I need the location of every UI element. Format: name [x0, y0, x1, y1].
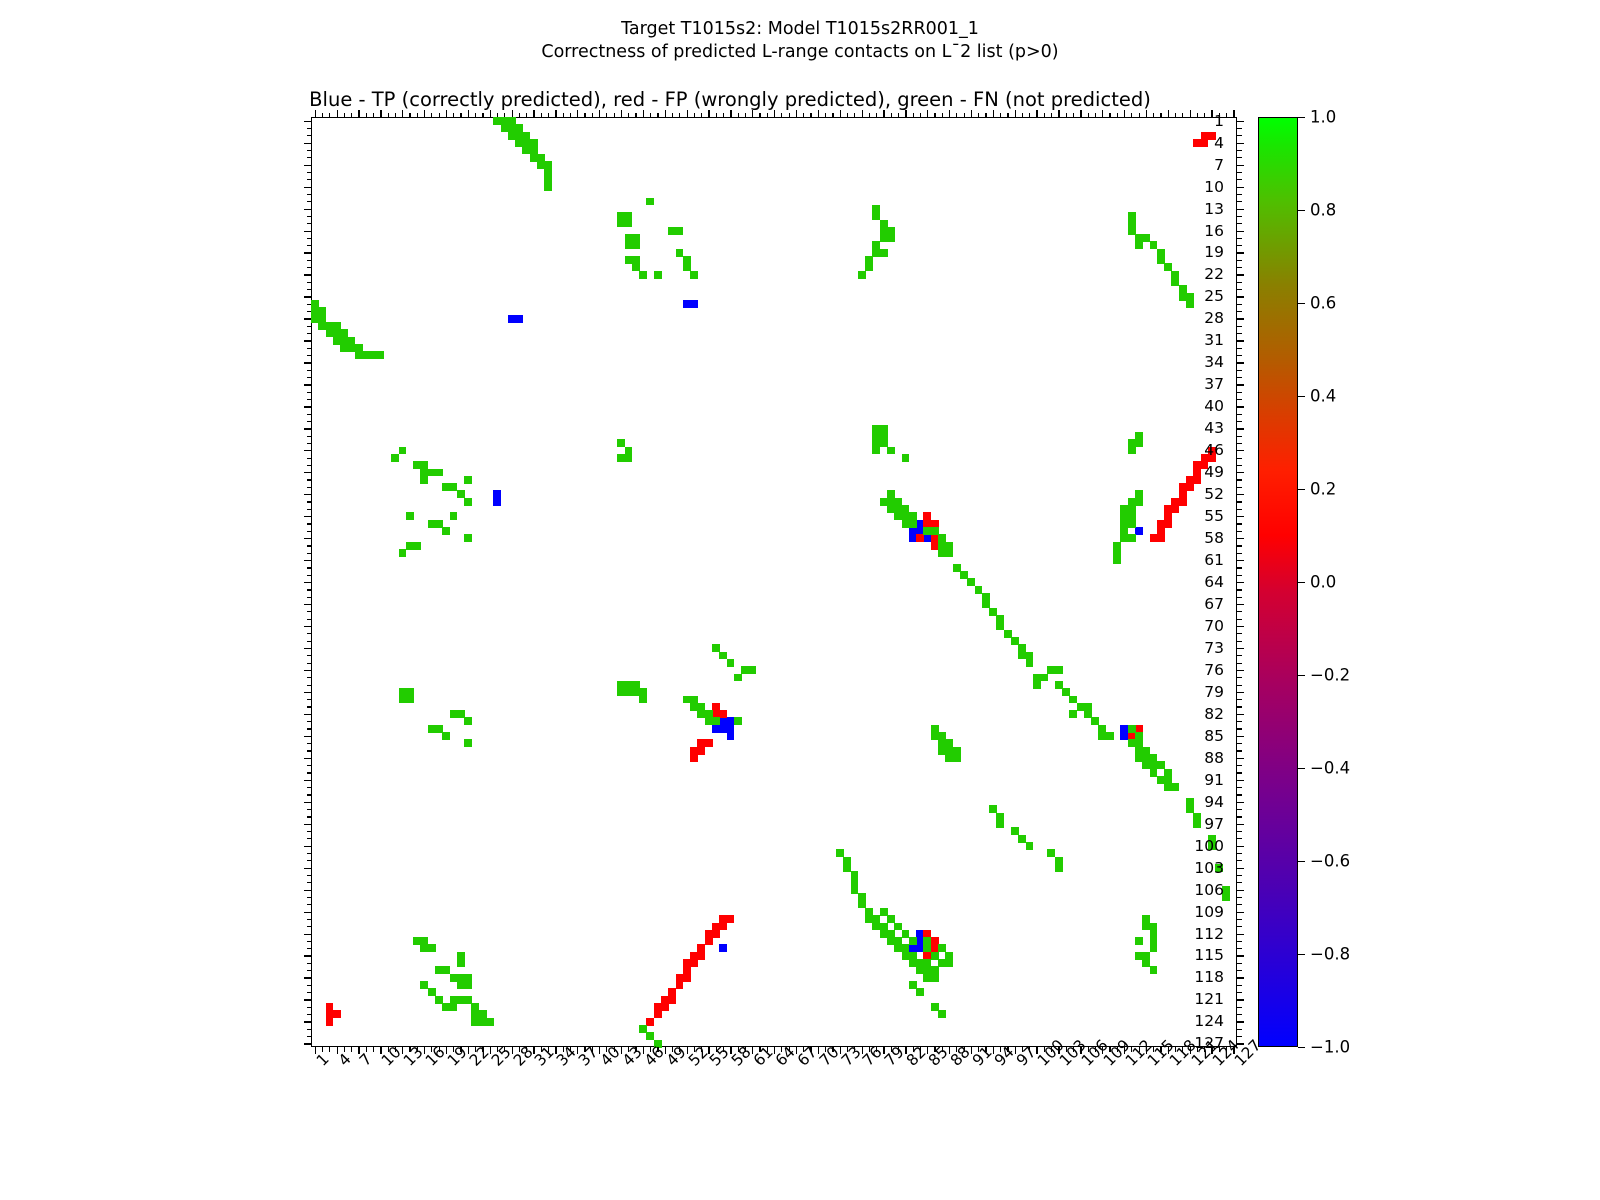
y-tick-minor — [307, 267, 312, 268]
x-tick-major — [905, 110, 906, 117]
x-tick-major — [643, 110, 644, 117]
x-tick-major — [533, 110, 534, 117]
x-tick-bottom — [1029, 1047, 1030, 1052]
x-tick-minor — [723, 113, 724, 118]
x-tick-minor — [1197, 113, 1198, 118]
x-tick-bottom — [1051, 1047, 1052, 1052]
colorbar-tick-label: −0.4 — [1310, 759, 1350, 778]
x-tick-bottom — [672, 1047, 673, 1052]
y-tick-minor — [307, 897, 312, 898]
y-tick-label: 61 — [1204, 551, 1224, 569]
x-tick-minor — [1153, 113, 1154, 118]
y-tick-right — [1237, 685, 1242, 686]
y-tick-major — [304, 187, 311, 188]
x-tick-minor — [439, 113, 440, 118]
y-tick-right — [1237, 941, 1242, 942]
x-tick-major — [883, 110, 884, 117]
colorbar-tick — [1298, 117, 1305, 118]
y-tick-right — [1237, 699, 1242, 700]
x-tick-bottom — [803, 1047, 804, 1052]
title-line-2: Correctness of predicted L-range contact… — [0, 41, 1600, 64]
y-tick-minor — [307, 816, 312, 817]
x-tick-minor — [431, 113, 432, 118]
y-tick-label: 115 — [1194, 946, 1224, 964]
contact-cell — [1157, 534, 1165, 542]
colorbar-tick — [1298, 303, 1305, 304]
contact-cell — [938, 1010, 946, 1018]
contact-cell — [865, 263, 873, 271]
y-tick-right — [1237, 399, 1242, 400]
contact-cell — [632, 241, 640, 249]
y-tick-right — [1237, 641, 1242, 642]
contact-cell — [909, 937, 917, 945]
y-tick-right — [1237, 414, 1242, 415]
x-tick-label: 4 — [335, 1057, 348, 1070]
x-tick-bottom — [497, 1047, 498, 1052]
x-tick-major — [927, 110, 928, 117]
y-tick-right — [1237, 201, 1242, 202]
contact-cell — [1135, 439, 1143, 447]
contact-cell — [639, 696, 647, 704]
y-tick-right — [1237, 179, 1242, 180]
x-tick-bottom — [1109, 1047, 1110, 1052]
y-tick-right — [1237, 831, 1242, 832]
x-tick-major — [468, 110, 469, 117]
y-tick-major — [304, 560, 311, 561]
y-tick-minor — [307, 853, 312, 854]
y-tick-minor — [307, 721, 312, 722]
y-tick-right — [1237, 436, 1242, 437]
y-tick-label: 64 — [1204, 573, 1224, 591]
y-tick-minor — [307, 772, 312, 773]
y-tick-minor — [307, 575, 312, 576]
y-tick-label: 112 — [1194, 925, 1224, 943]
x-tick-label: 52 — [685, 1057, 698, 1070]
y-tick-minor — [307, 501, 312, 502]
y-tick-minor — [307, 531, 312, 532]
colorbar-tick — [1298, 582, 1305, 583]
x-tick-minor — [563, 113, 564, 118]
legend-description: Blue - TP (correctly predicted), red - F… — [0, 88, 1460, 111]
x-tick-bottom — [1022, 1047, 1023, 1052]
x-tick-label: 76 — [859, 1057, 872, 1070]
x-tick-bottom — [439, 1047, 440, 1052]
y-tick-label: 85 — [1204, 727, 1224, 745]
y-tick-minor — [307, 992, 312, 993]
y-tick-minor — [307, 1007, 312, 1008]
x-tick-bottom — [329, 1047, 330, 1052]
y-tick-right — [1237, 1007, 1242, 1008]
x-tick-minor — [701, 113, 702, 118]
y-tick-major — [304, 999, 311, 1000]
y-tick-right — [1237, 977, 1244, 978]
y-tick-right — [1237, 1021, 1244, 1022]
y-tick-label: 106 — [1194, 881, 1224, 899]
x-tick-bottom — [716, 1047, 717, 1052]
x-tick-minor — [934, 113, 935, 118]
x-tick-major — [402, 110, 403, 117]
x-tick-bottom — [1197, 1047, 1198, 1052]
y-tick-label: 88 — [1204, 749, 1224, 767]
contact-cell — [654, 271, 662, 279]
contact-cell — [355, 344, 363, 352]
x-tick-bottom — [592, 1047, 593, 1052]
contact-cell — [916, 988, 924, 996]
contact-cell — [1069, 710, 1077, 718]
x-tick-minor — [1226, 113, 1227, 118]
y-tick-minor — [307, 304, 312, 305]
x-tick-minor — [759, 113, 760, 118]
x-tick-label: 97 — [1013, 1057, 1026, 1070]
y-tick-label: 70 — [1204, 617, 1224, 635]
y-tick-right — [1237, 362, 1244, 363]
x-tick-bottom — [1139, 1047, 1140, 1052]
y-tick-minor — [307, 860, 312, 861]
contact-cell — [683, 974, 691, 982]
y-tick-label: 7 — [1214, 156, 1224, 174]
y-tick-label: 22 — [1204, 265, 1224, 283]
y-tick-minor — [307, 370, 312, 371]
y-tick-major — [304, 714, 311, 715]
y-tick-right — [1237, 809, 1242, 810]
y-tick-minor — [307, 787, 312, 788]
x-tick-major — [358, 110, 359, 117]
y-tick-minor — [307, 311, 312, 312]
x-tick-bottom — [934, 1047, 935, 1052]
contact-cell — [1186, 483, 1194, 491]
y-tick-major — [304, 209, 311, 210]
x-tick-major — [993, 110, 994, 117]
y-tick-right — [1237, 223, 1242, 224]
contact-cell — [435, 469, 443, 477]
contact-cell — [464, 476, 472, 484]
x-tick-bottom — [759, 1047, 760, 1052]
x-tick-minor — [745, 113, 746, 118]
contact-cell — [996, 820, 1004, 828]
y-tick-minor — [307, 377, 312, 378]
chart-title-block: Target T1015s2: Model T1015s2RR001_1 Cor… — [0, 18, 1600, 64]
y-tick-right — [1237, 538, 1244, 539]
y-tick-right — [1237, 948, 1242, 949]
y-tick-right — [1237, 721, 1242, 722]
y-tick-minor — [307, 838, 312, 839]
y-tick-minor — [307, 245, 312, 246]
colorbar-tick — [1298, 954, 1305, 955]
x-tick-major — [577, 110, 578, 117]
x-tick-bottom — [964, 1047, 965, 1052]
x-tick-bottom — [1175, 1047, 1176, 1052]
x-tick-minor — [832, 113, 833, 118]
y-tick-major — [304, 231, 311, 232]
contact-cell — [406, 696, 414, 704]
y-tick-right — [1237, 882, 1242, 883]
y-tick-minor — [307, 172, 312, 173]
y-tick-right — [1237, 238, 1242, 239]
x-tick-bottom — [694, 1047, 695, 1052]
contact-cell — [887, 447, 895, 455]
y-tick-minor — [307, 941, 312, 942]
y-tick-right — [1237, 575, 1242, 576]
contact-cell — [515, 315, 523, 323]
y-tick-right — [1237, 318, 1244, 319]
y-tick-minor — [307, 260, 312, 261]
contact-cell — [1193, 476, 1201, 484]
contact-cell — [442, 732, 450, 740]
x-tick-major — [380, 110, 381, 117]
x-tick-bottom — [526, 1047, 527, 1052]
y-tick-minor — [307, 904, 312, 905]
x-tick-bottom — [1095, 1047, 1096, 1052]
contact-cell — [1135, 241, 1143, 249]
y-tick-major — [304, 274, 311, 275]
x-tick-minor — [898, 113, 899, 118]
contact-cell — [625, 220, 633, 228]
colorbar-tick — [1298, 396, 1305, 397]
y-tick-right — [1237, 824, 1244, 825]
y-tick-major — [304, 934, 311, 935]
y-tick-major — [304, 428, 311, 429]
contact-cell — [326, 1018, 334, 1026]
y-tick-right — [1237, 919, 1242, 920]
y-tick-right — [1237, 311, 1242, 312]
x-tick-bottom — [920, 1047, 921, 1052]
x-tick-minor — [913, 113, 914, 118]
x-tick-bottom — [876, 1047, 877, 1052]
y-tick-right — [1237, 655, 1242, 656]
contact-cell — [734, 717, 742, 725]
x-tick-minor — [592, 113, 593, 118]
x-tick-minor — [1117, 113, 1118, 118]
x-tick-minor — [548, 113, 549, 118]
x-tick-label: 25 — [488, 1057, 501, 1070]
x-tick-bottom — [832, 1047, 833, 1052]
y-tick-label: 28 — [1204, 309, 1224, 327]
x-tick-bottom — [738, 1047, 739, 1052]
x-tick-label: 58 — [728, 1057, 741, 1070]
contact-cell — [1033, 681, 1041, 689]
y-tick-major — [304, 384, 311, 385]
x-tick-bottom — [366, 1047, 367, 1052]
contact-cell — [391, 454, 399, 462]
contact-cell — [318, 307, 326, 315]
x-tick-minor — [475, 113, 476, 118]
contact-cell — [1026, 842, 1034, 850]
x-tick-bottom — [854, 1047, 855, 1052]
contact-cell — [457, 981, 465, 989]
x-tick-major — [315, 110, 316, 117]
y-tick-label: 46 — [1204, 441, 1224, 459]
y-tick-label: 91 — [1204, 771, 1224, 789]
y-tick-right — [1237, 274, 1244, 275]
y-tick-right — [1237, 728, 1242, 729]
y-tick-minor — [307, 743, 312, 744]
x-tick-minor — [322, 113, 323, 118]
contact-cell — [719, 923, 727, 931]
x-tick-bottom — [504, 1047, 505, 1052]
y-tick-right — [1237, 479, 1242, 480]
x-tick-label: 16 — [422, 1057, 435, 1070]
x-tick-minor — [519, 113, 520, 118]
y-tick-right — [1237, 860, 1242, 861]
y-tick-major — [304, 670, 311, 671]
x-tick-minor — [854, 113, 855, 118]
contact-cell — [654, 1010, 662, 1018]
y-tick-right — [1237, 157, 1242, 158]
x-tick-major — [708, 110, 709, 117]
x-tick-minor — [1160, 113, 1161, 118]
y-tick-right — [1237, 750, 1242, 751]
x-tick-major — [774, 110, 775, 117]
contact-cell — [1150, 966, 1158, 974]
x-tick-bottom — [657, 1047, 658, 1052]
x-tick-major — [337, 110, 338, 117]
x-tick-minor — [1219, 113, 1220, 118]
x-tick-label: 106 — [1078, 1057, 1091, 1070]
y-tick-major — [304, 780, 311, 781]
contact-cell — [676, 227, 684, 235]
x-tick-minor — [1095, 113, 1096, 118]
contact-cell — [1201, 139, 1209, 147]
x-tick-label: 40 — [597, 1057, 610, 1070]
x-tick-major — [687, 110, 688, 117]
contact-cell — [1186, 300, 1194, 308]
y-tick-minor — [307, 128, 312, 129]
y-tick-right — [1237, 743, 1242, 744]
y-tick-major — [304, 955, 311, 956]
y-tick-right — [1237, 465, 1242, 466]
y-tick-minor — [307, 619, 312, 620]
x-tick-minor — [869, 113, 870, 118]
x-tick-bottom — [563, 1047, 564, 1052]
x-tick-minor — [738, 113, 739, 118]
y-tick-right — [1237, 377, 1242, 378]
y-tick-major — [304, 604, 311, 605]
y-tick-right — [1237, 370, 1242, 371]
x-tick-minor — [635, 113, 636, 118]
y-tick-minor — [307, 135, 312, 136]
y-tick-right — [1237, 890, 1244, 891]
y-tick-right — [1237, 135, 1242, 136]
contact-cell — [1135, 498, 1143, 506]
y-tick-right — [1237, 912, 1244, 913]
x-tick-bottom — [847, 1047, 848, 1052]
x-tick-label: 103 — [1056, 1057, 1069, 1070]
y-tick-right — [1237, 545, 1242, 546]
y-tick-minor — [307, 1014, 312, 1015]
y-tick-minor — [307, 289, 312, 290]
x-tick-label: 109 — [1100, 1057, 1113, 1070]
x-tick-minor — [1182, 113, 1183, 118]
y-tick-minor — [307, 926, 312, 927]
x-tick-bottom — [1160, 1047, 1161, 1052]
x-tick-bottom — [978, 1047, 979, 1052]
y-tick-right — [1237, 531, 1242, 532]
y-tick-minor — [307, 685, 312, 686]
y-tick-label: 4 — [1214, 134, 1224, 152]
x-tick-bottom — [723, 1047, 724, 1052]
x-tick-minor — [657, 113, 658, 118]
x-tick-bottom — [745, 1047, 746, 1052]
y-tick-right — [1237, 714, 1244, 715]
x-tick-bottom — [1000, 1047, 1001, 1052]
y-tick-right — [1237, 150, 1242, 151]
x-tick-bottom — [1182, 1047, 1183, 1052]
y-tick-right — [1237, 1029, 1242, 1030]
x-tick-major — [665, 110, 666, 117]
x-tick-major — [424, 110, 425, 117]
contact-cell — [668, 996, 676, 1004]
y-tick-right — [1237, 816, 1242, 817]
contact-cell — [479, 1018, 487, 1026]
x-tick-bottom — [570, 1047, 571, 1052]
x-tick-minor — [541, 113, 542, 118]
contact-cell — [464, 974, 472, 982]
x-tick-label: 28 — [510, 1057, 523, 1070]
x-tick-bottom — [1044, 1047, 1045, 1052]
y-tick-right — [1237, 267, 1242, 268]
x-tick-major — [1080, 110, 1081, 117]
x-tick-major — [1102, 110, 1103, 117]
y-tick-minor — [307, 421, 312, 422]
x-tick-minor — [409, 113, 410, 118]
y-tick-minor — [307, 809, 312, 810]
y-tick-right — [1237, 296, 1244, 297]
contact-cell — [748, 666, 756, 674]
y-tick-right — [1237, 970, 1242, 971]
contact-cell — [916, 534, 924, 542]
contact-cell — [1150, 944, 1158, 952]
x-tick-major — [490, 110, 491, 117]
x-tick-major — [1036, 110, 1037, 117]
y-tick-major — [304, 296, 311, 297]
x-tick-minor — [847, 113, 848, 118]
contact-cell — [646, 198, 654, 206]
y-tick-right — [1237, 582, 1244, 583]
x-tick-minor — [329, 113, 330, 118]
contact-cell — [457, 959, 465, 967]
colorbar-tick-label: −0.2 — [1310, 666, 1350, 685]
x-tick-minor — [1175, 113, 1176, 118]
y-tick-right — [1237, 421, 1242, 422]
y-tick-minor — [307, 487, 312, 488]
x-tick-major — [971, 110, 972, 117]
y-tick-right — [1237, 406, 1244, 407]
y-tick-major — [304, 1043, 311, 1044]
x-tick-minor — [1029, 113, 1030, 118]
contact-cell — [464, 498, 472, 506]
contact-cell — [625, 454, 633, 462]
title-line-1: Target T1015s2: Model T1015s2RR001_1 — [0, 18, 1600, 41]
y-tick-minor — [307, 750, 312, 751]
y-tick-minor — [307, 882, 312, 883]
y-tick-right — [1237, 128, 1242, 129]
contact-cell — [1135, 937, 1143, 945]
y-tick-label: 124 — [1194, 1012, 1224, 1030]
y-tick-right — [1237, 670, 1244, 671]
y-tick-minor — [307, 948, 312, 949]
x-tick-bottom — [767, 1047, 768, 1052]
y-tick-minor — [307, 509, 312, 510]
y-tick-label: 55 — [1204, 507, 1224, 525]
x-tick-bottom — [679, 1047, 680, 1052]
y-tick-minor — [307, 970, 312, 971]
x-tick-label: 121 — [1188, 1057, 1201, 1070]
y-tick-major — [304, 626, 311, 627]
contact-cell — [945, 549, 953, 557]
y-tick-label: 82 — [1204, 705, 1224, 723]
y-tick-major — [304, 143, 311, 144]
y-tick-right — [1237, 999, 1244, 1000]
